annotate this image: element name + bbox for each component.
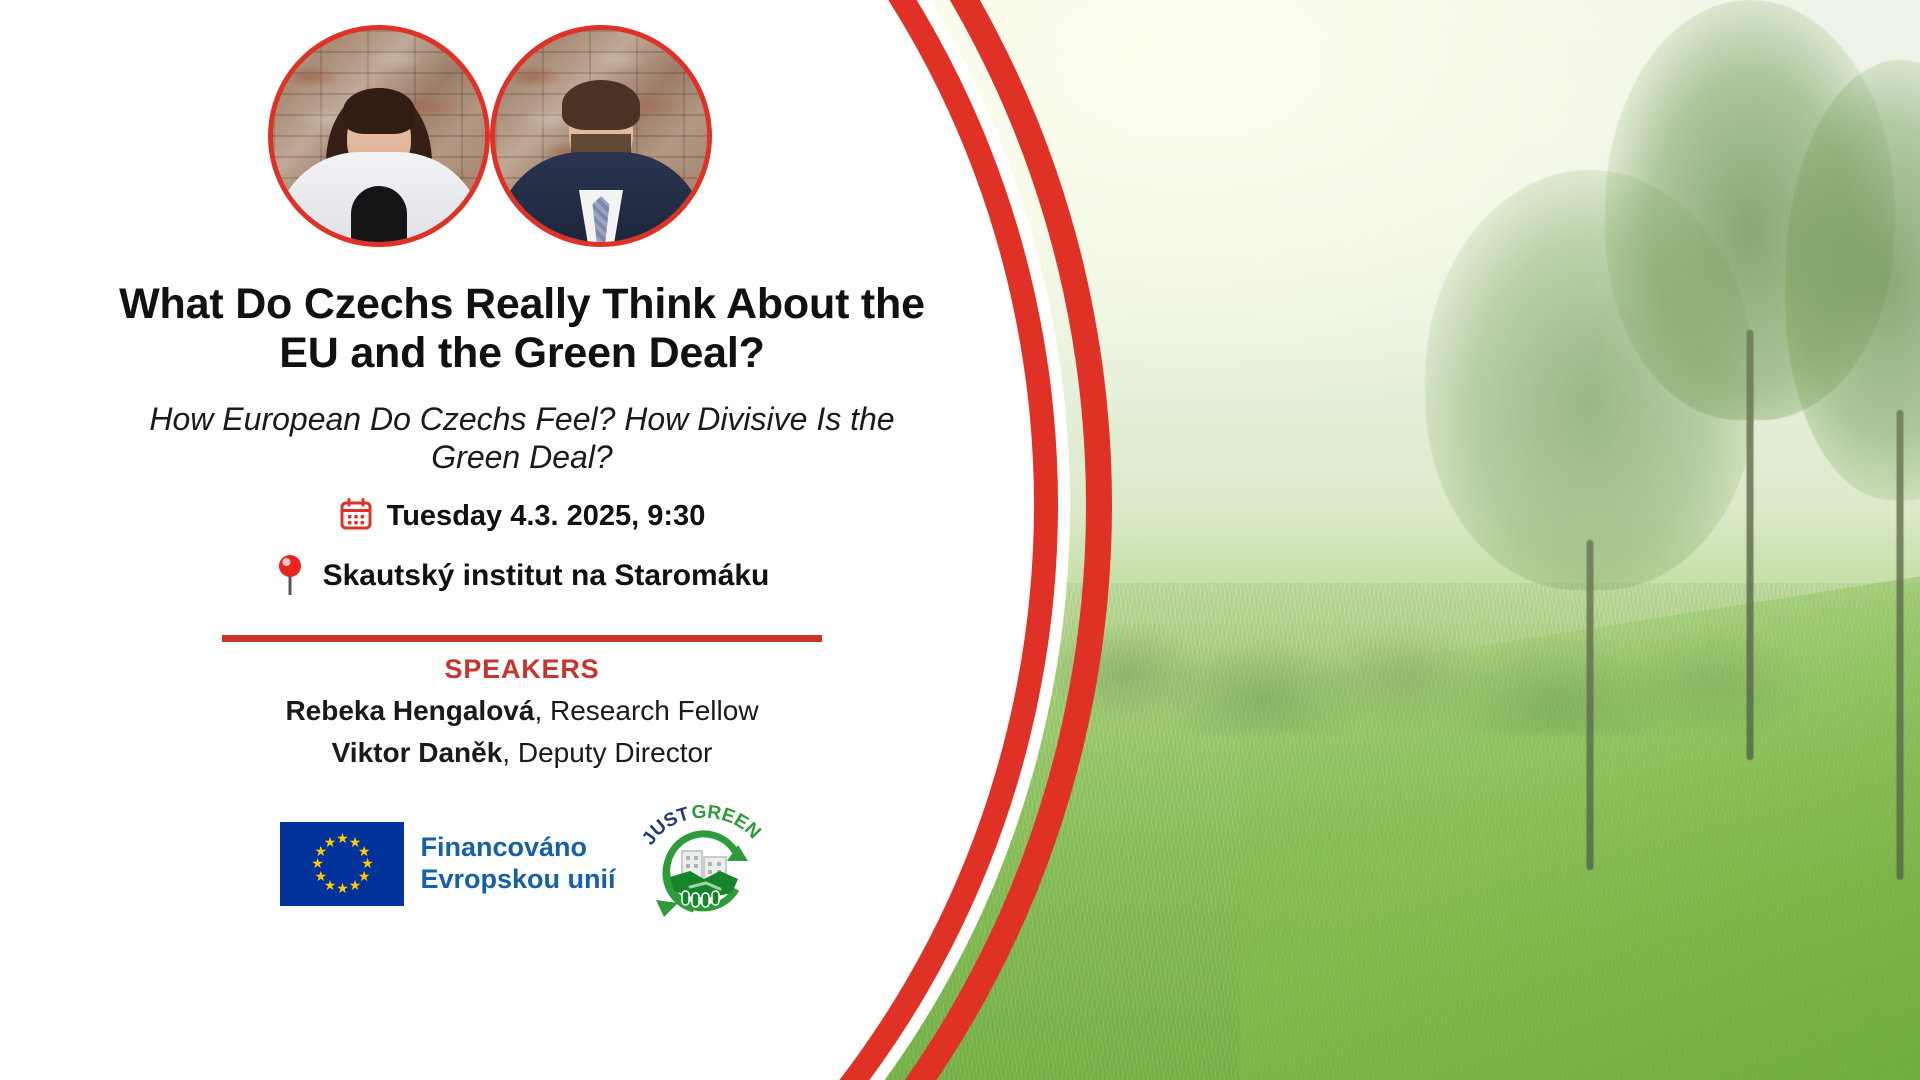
eu-star-icon: ★ [348, 879, 361, 892]
event-location-row: Skautský institut na Staromáku [92, 552, 952, 601]
speaker-entry-1: Rebeka Hengalová, Research Fellow [92, 695, 952, 727]
svg-text:GREEN: GREEN [690, 805, 763, 843]
tree-trunk [1897, 410, 1904, 880]
tree-trunk [1747, 330, 1754, 760]
eu-funding-logo: ★★★★★★★★★★★★ Financováno Evropskou unií [280, 822, 615, 906]
eu-funding-text: Financováno Evropskou unií [420, 832, 615, 896]
speaker-entry-2: Viktor Daněk, Deputy Director [92, 737, 952, 769]
event-date-text: Tuesday 4.3. 2025, 9:30 [387, 500, 706, 533]
event-subtitle: How European Do Czechs Feel? How Divisiv… [92, 400, 952, 477]
speaker-portrait-rebeka-hengalova [268, 25, 490, 247]
speaker-portrait-viktor-danek [490, 25, 712, 247]
map-pin-icon [275, 552, 305, 601]
black-top [351, 186, 407, 247]
event-subtitle-line-1: How European Do Czechs Feel? How Divisiv… [118, 400, 926, 438]
funding-logos: ★★★★★★★★★★★★ Financováno Evropskou unií … [92, 805, 952, 923]
hair-top [562, 80, 640, 130]
eu-funding-line-2: Evropskou unií [420, 864, 615, 896]
event-title-line-2: EU and the Green Deal? [106, 329, 938, 378]
speaker-name-1: Rebeka Hengalová [285, 695, 534, 726]
section-divider [222, 635, 822, 642]
speaker-role-1: , Research Fellow [534, 695, 758, 726]
speaker-portraits [268, 25, 708, 275]
speakers-heading: SPEAKERS [92, 654, 952, 685]
tree-tall-right [1790, 60, 1920, 880]
calendar-icon [339, 497, 373, 536]
justgreen-word-green: GREEN [690, 805, 763, 843]
event-title: What Do Czechs Really Think About the EU… [92, 280, 952, 378]
speaker-name-2: Viktor Daněk [332, 737, 503, 768]
eu-star-icon: ★ [311, 857, 324, 870]
speaker-role-2: , Deputy Director [502, 737, 712, 768]
event-poster: What Do Czechs Really Think About the EU… [0, 0, 1920, 1080]
eu-star-icon: ★ [336, 832, 349, 845]
divider-row [92, 601, 952, 642]
event-subtitle-line-2: Green Deal? [118, 438, 926, 476]
eu-star-icon: ★ [336, 882, 349, 895]
event-title-line-1: What Do Czechs Really Think About the [106, 280, 938, 329]
person-figure [495, 30, 707, 242]
event-date-row: Tuesday 4.3. 2025, 9:30 [92, 497, 952, 536]
eu-star-icon: ★ [314, 870, 327, 883]
eu-star-icon: ★ [323, 836, 336, 849]
tree-trunk [1587, 540, 1594, 870]
eu-flag-icon: ★★★★★★★★★★★★ [280, 822, 404, 906]
event-location-text: Skautský institut na Staromáku [323, 559, 770, 593]
eu-funding-line-1: Financováno [420, 832, 615, 864]
hair-top [343, 88, 415, 134]
justgreen-logo: JUST GREEN [642, 805, 764, 923]
person-figure [273, 30, 485, 242]
event-details: What Do Czechs Really Think About the EU… [92, 280, 952, 923]
